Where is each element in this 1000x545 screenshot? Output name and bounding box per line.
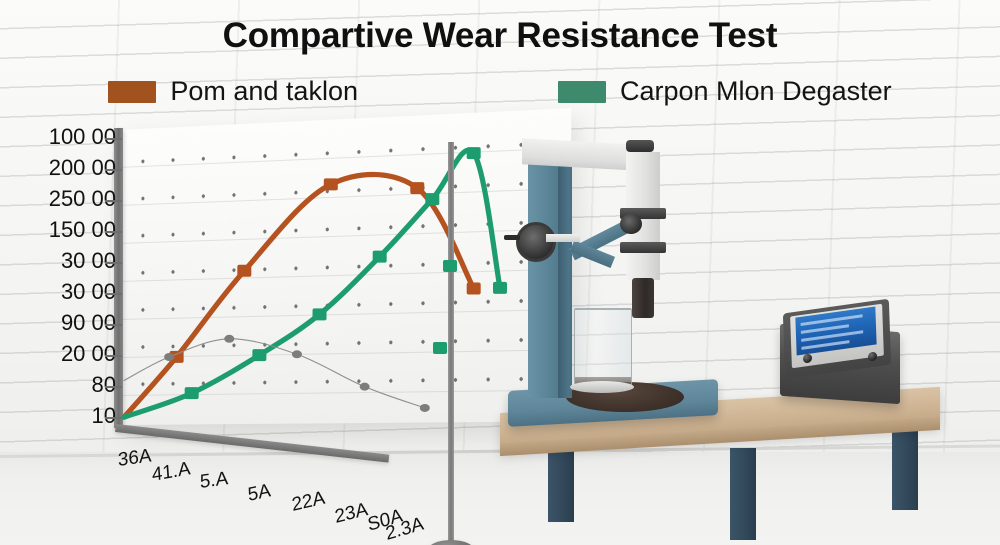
data-point-marker xyxy=(313,308,327,320)
data-point-marker xyxy=(467,282,481,294)
legend-label: Carpon Mlon Degaster xyxy=(620,76,892,107)
floating-marker-mid xyxy=(433,342,447,354)
data-point-marker xyxy=(292,350,302,358)
machine-collar xyxy=(620,242,666,253)
legend-label: Pom and taklon xyxy=(170,76,358,107)
series-line-carpon-mlon-degaster xyxy=(124,150,500,417)
floating-marker-top xyxy=(443,260,457,272)
data-point-marker xyxy=(425,193,439,205)
data-point-marker xyxy=(360,383,370,391)
beaker-holder-ring xyxy=(570,381,634,393)
data-point-marker xyxy=(373,251,387,263)
handwheel-handle[interactable] xyxy=(504,235,520,240)
chart-legend: Pom and taklon Carpon Mlon Degaster xyxy=(0,76,1000,107)
console-screen-text-line xyxy=(801,340,849,350)
data-point-marker xyxy=(185,387,199,399)
vertical-pole xyxy=(448,142,454,542)
table-leg xyxy=(730,448,756,540)
data-point-marker xyxy=(410,182,424,194)
series-line-reference xyxy=(124,339,425,408)
data-point-marker xyxy=(420,404,430,412)
legend-swatch-icon xyxy=(108,81,156,103)
chart-title: Compartive Wear Resistance Test xyxy=(0,16,1000,56)
machine-column-stripe xyxy=(558,148,569,398)
data-point-marker xyxy=(467,147,481,159)
data-point-marker xyxy=(324,178,338,190)
data-point-marker xyxy=(237,265,251,277)
data-point-marker xyxy=(164,353,174,361)
wear-test-machine xyxy=(480,130,1000,545)
data-point-marker xyxy=(252,349,266,361)
legend-item-pom-and-taklon: Pom and taklon xyxy=(108,76,358,107)
handwheel-shaft xyxy=(546,234,580,242)
machine-pivot-knob[interactable] xyxy=(620,214,642,234)
glass-beaker xyxy=(574,308,632,389)
handwheel-icon[interactable] xyxy=(516,222,556,262)
machine-spindle xyxy=(632,278,654,318)
machine-top-knob[interactable] xyxy=(626,140,654,152)
data-point-marker xyxy=(224,335,234,343)
legend-swatch-icon xyxy=(558,81,606,103)
screenshot-root: Compartive Wear Resistance Test Pom and … xyxy=(0,0,1000,545)
console-screen-text-line xyxy=(801,314,863,326)
legend-item-carpon-mlon-degaster: Carpon Mlon Degaster xyxy=(558,76,892,107)
